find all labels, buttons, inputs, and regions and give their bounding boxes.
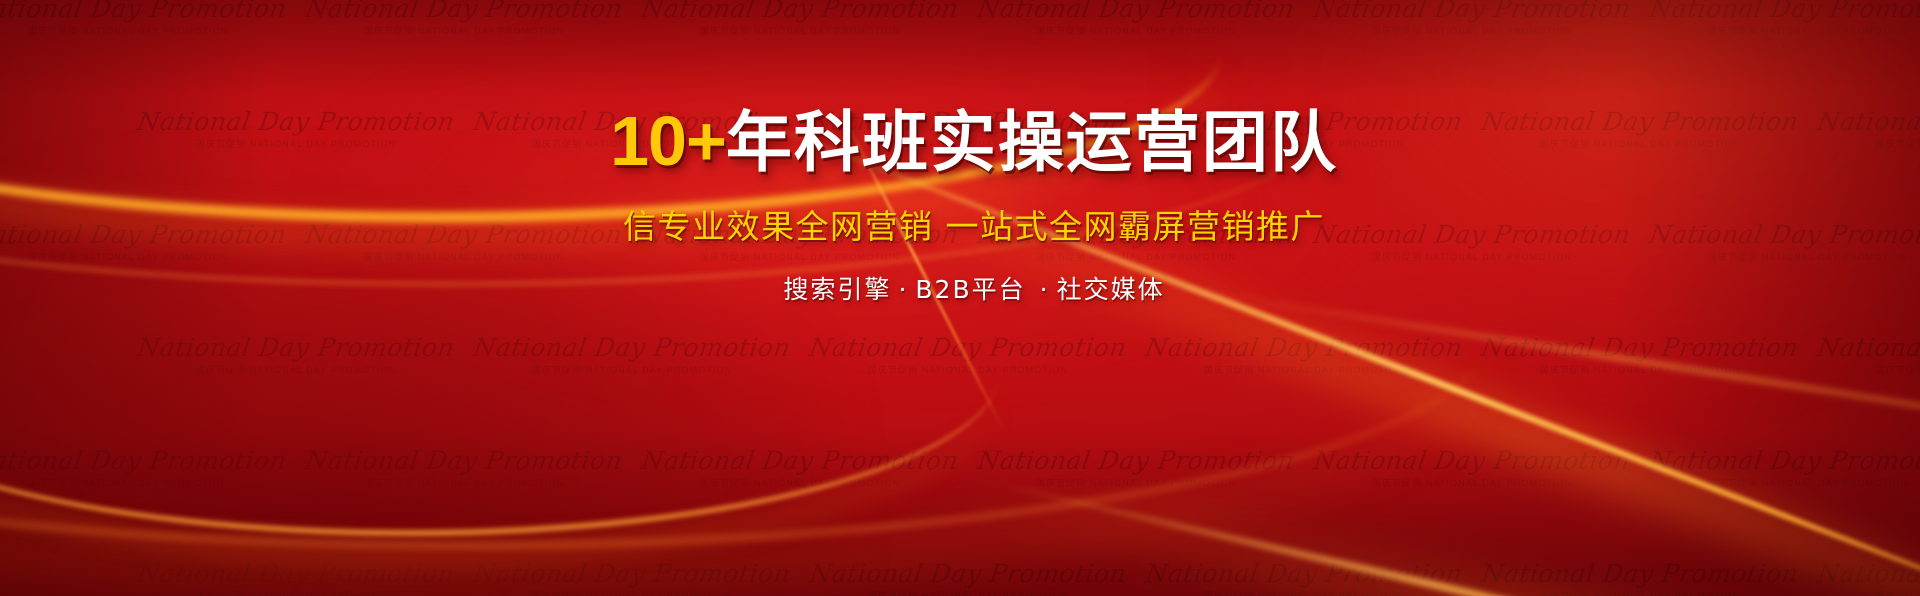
subtitle-item-search-engine: 搜索引擎 (783, 275, 891, 304)
banner-text-block: 10+年科班实操运营团队 信专业效果全网营销 一站式全网霸屏营销推广 搜索引擎·… (0, 104, 1920, 306)
subtitle-secondary: 搜索引擎·B2B平台·社交媒体 (28, 270, 1920, 306)
promotional-banner: National Day Promotion国庆节促销 NATIONAL DAY… (0, 0, 1920, 596)
subtitle-item-b2b-platform: B2B平台 (915, 275, 1025, 304)
headline-text: 年科班实操运营团队 (726, 104, 1338, 181)
subtitle-separator-2: · (1033, 275, 1057, 304)
subtitle-separator-1: · (891, 275, 915, 304)
headline: 10+年科班实操运营团队 (28, 104, 1920, 178)
subtitle-primary: 信专业效果全网营销 一站式全网霸屏营销推广 (28, 200, 1920, 248)
headline-number: 10+ (610, 102, 726, 180)
subtitle-item-social-media: 社交媒体 (1057, 275, 1165, 304)
